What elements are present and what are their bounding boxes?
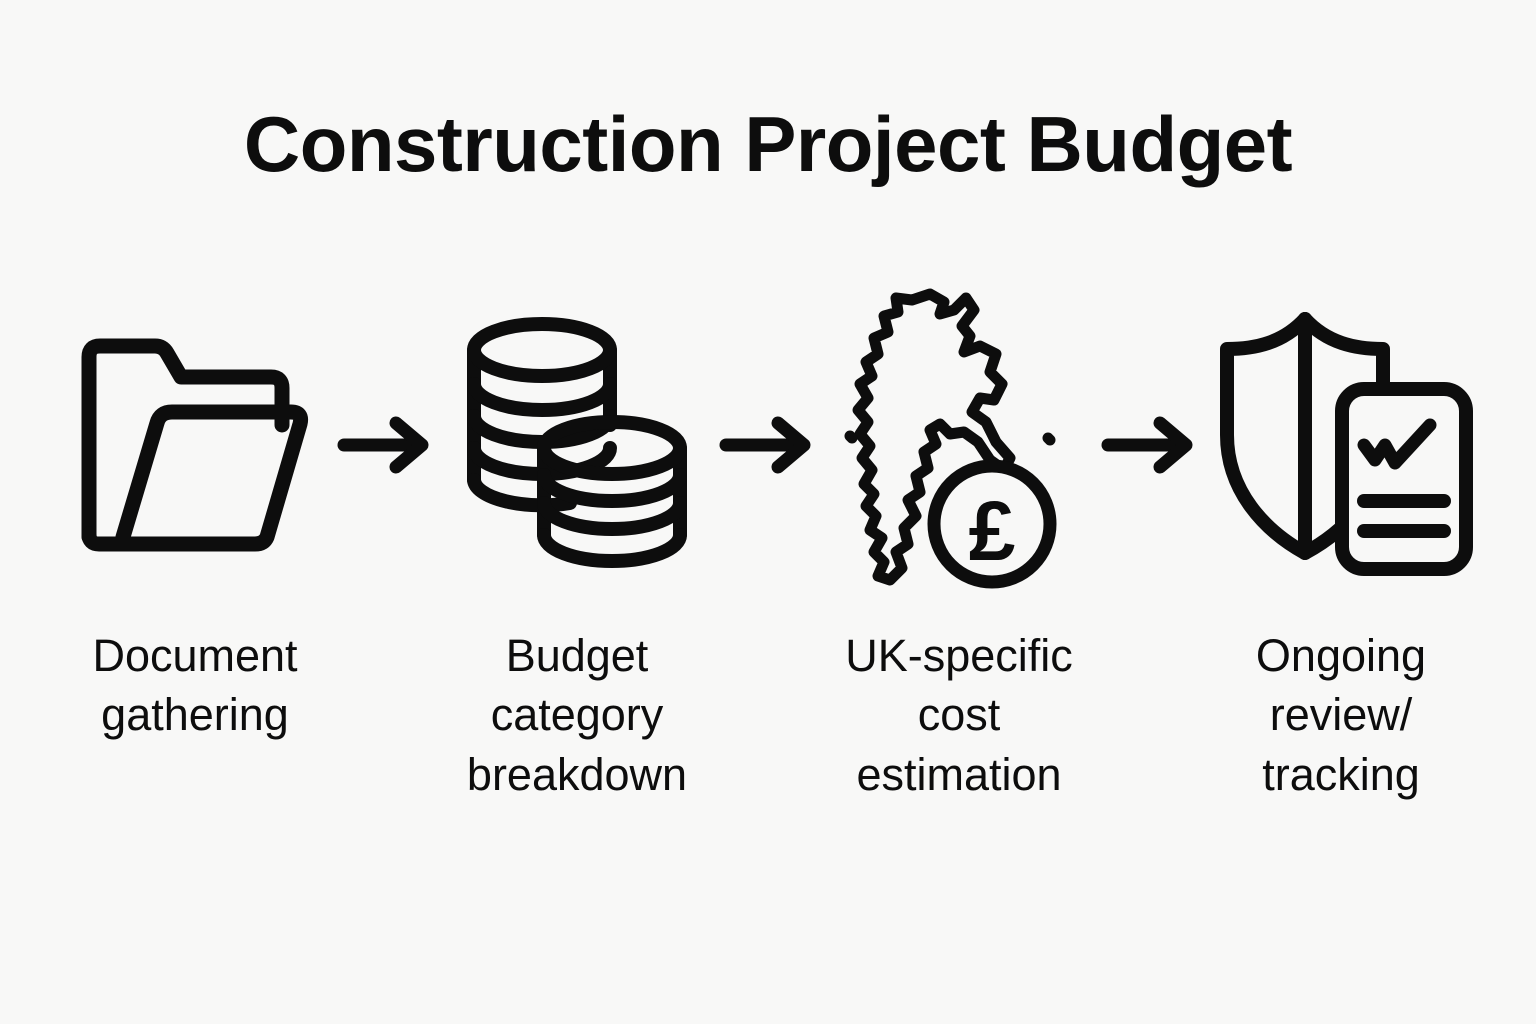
shield-document-icon (1206, 270, 1476, 620)
uk-map-pound-icon: £ (824, 270, 1094, 620)
coin-stacks-icon (442, 270, 712, 620)
arrow-right-icon (713, 270, 823, 620)
diagram-canvas: Construction Project Budget Document gat… (0, 0, 1536, 1024)
flow-step-budget-category-breakdown: Budget category breakdown (442, 270, 712, 804)
flow-step-uk-specific-cost-estimation: £ UK-specific cost estimation (824, 270, 1094, 804)
pound-symbol: £ (969, 484, 1016, 578)
flow-step-label: Ongoing review/ tracking (1196, 626, 1486, 804)
flow-step-ongoing-review-tracking: Ongoing review/ tracking (1206, 270, 1476, 804)
flow-step-label: UK-specific cost estimation (814, 626, 1104, 804)
flow-step-document-gathering: Document gathering (60, 270, 330, 745)
folder-icon (60, 270, 330, 620)
arrow-right-icon (1095, 270, 1205, 620)
document-card (1342, 389, 1466, 569)
arrow-right-icon (331, 270, 441, 620)
page-title: Construction Project Budget (0, 104, 1536, 186)
flow-step-label: Budget category breakdown (432, 626, 722, 804)
process-flow: Document gathering (60, 270, 1476, 830)
flow-step-label: Document gathering (50, 626, 340, 745)
